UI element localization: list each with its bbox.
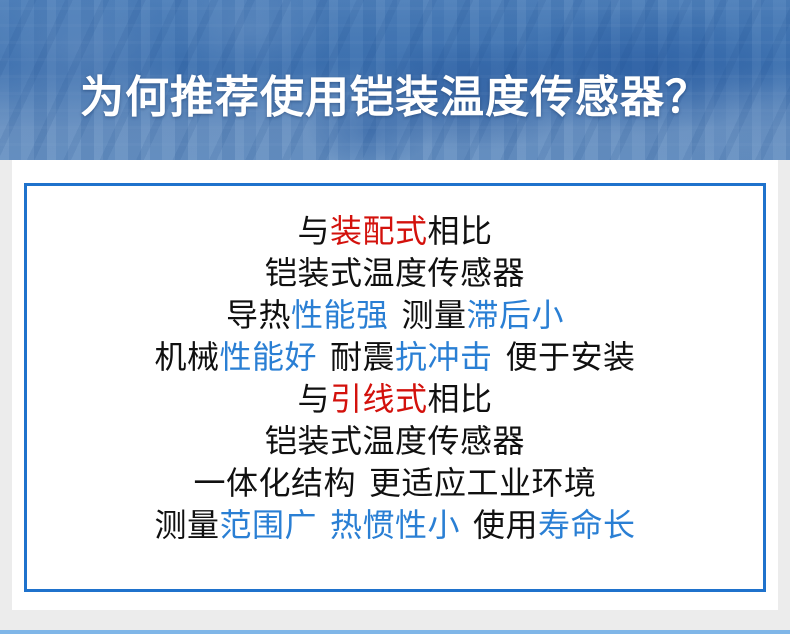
text-segment-black: 导热 — [226, 296, 291, 334]
feature-line-compare-leadwire: 与引线式相比 — [27, 378, 763, 420]
text-segment-black: 测量 — [154, 506, 219, 544]
hero-banner: 为何推荐使用铠装温度传感器？ — [0, 0, 790, 160]
text-segment-black: 更适应工业环境 — [369, 464, 597, 502]
text-segment-blue: 热惯性小 — [330, 506, 460, 544]
text-segment-black: 一体化结构 — [193, 464, 356, 502]
feature-line-thermal-conductivity: 导热性能强测量滞后小 — [27, 294, 763, 336]
text-segment-red: 装配式 — [330, 212, 428, 250]
text-segment-blue: 抗冲击 — [395, 338, 493, 376]
text-segment-blue: 范围广 — [219, 506, 317, 544]
text-segment-blue: 滞后小 — [467, 296, 565, 334]
text-segment-black: 铠装式温度传感器 — [265, 254, 525, 292]
text-segment-blue: 寿命长 — [538, 506, 636, 544]
feature-line-integrated-structure: 一体化结构更适应工业环境 — [27, 462, 763, 504]
text-segment-black: 铠装式温度传感器 — [265, 422, 525, 460]
feature-line-list: 与装配式相比铠装式温度传感器导热性能强测量滞后小机械性能好耐震抗冲击便于安装与引… — [27, 210, 763, 546]
feature-line-measurement-range: 测量范围广热惯性小使用寿命长 — [27, 504, 763, 546]
product-info-page: 为何推荐使用铠装温度传感器？ 与装配式相比铠装式温度传感器导热性能强测量滞后小机… — [0, 0, 790, 634]
text-segment-black: 耐震 — [330, 338, 395, 376]
text-segment-black: 相比 — [428, 212, 493, 250]
feature-line-product-name-1: 铠装式温度传感器 — [27, 252, 763, 294]
text-segment-blue: 性能强 — [291, 296, 389, 334]
text-segment-red: 引线式 — [330, 380, 428, 418]
feature-line-mechanical-performance: 机械性能好耐震抗冲击便于安装 — [27, 336, 763, 378]
text-segment-black: 与 — [297, 380, 330, 418]
content-panel: 与装配式相比铠装式温度传感器导热性能强测量滞后小机械性能好耐震抗冲击便于安装与引… — [12, 160, 778, 610]
text-segment-black: 便于安装 — [506, 338, 636, 376]
text-segment-blue: 性能好 — [219, 338, 317, 376]
feature-line-compare-assembled: 与装配式相比 — [27, 210, 763, 252]
footer-blue-bar — [0, 630, 790, 634]
banner-title: 为何推荐使用铠装温度传感器？ — [0, 73, 790, 123]
text-segment-black: 与 — [297, 212, 330, 250]
text-segment-black: 测量 — [402, 296, 467, 334]
text-segment-black: 相比 — [428, 380, 493, 418]
footer-gray-strip — [0, 610, 790, 630]
blue-framed-box: 与装配式相比铠装式温度传感器导热性能强测量滞后小机械性能好耐震抗冲击便于安装与引… — [24, 183, 766, 592]
text-segment-black: 使用 — [473, 506, 538, 544]
feature-line-product-name-2: 铠装式温度传感器 — [27, 420, 763, 462]
text-segment-black: 机械 — [154, 338, 219, 376]
